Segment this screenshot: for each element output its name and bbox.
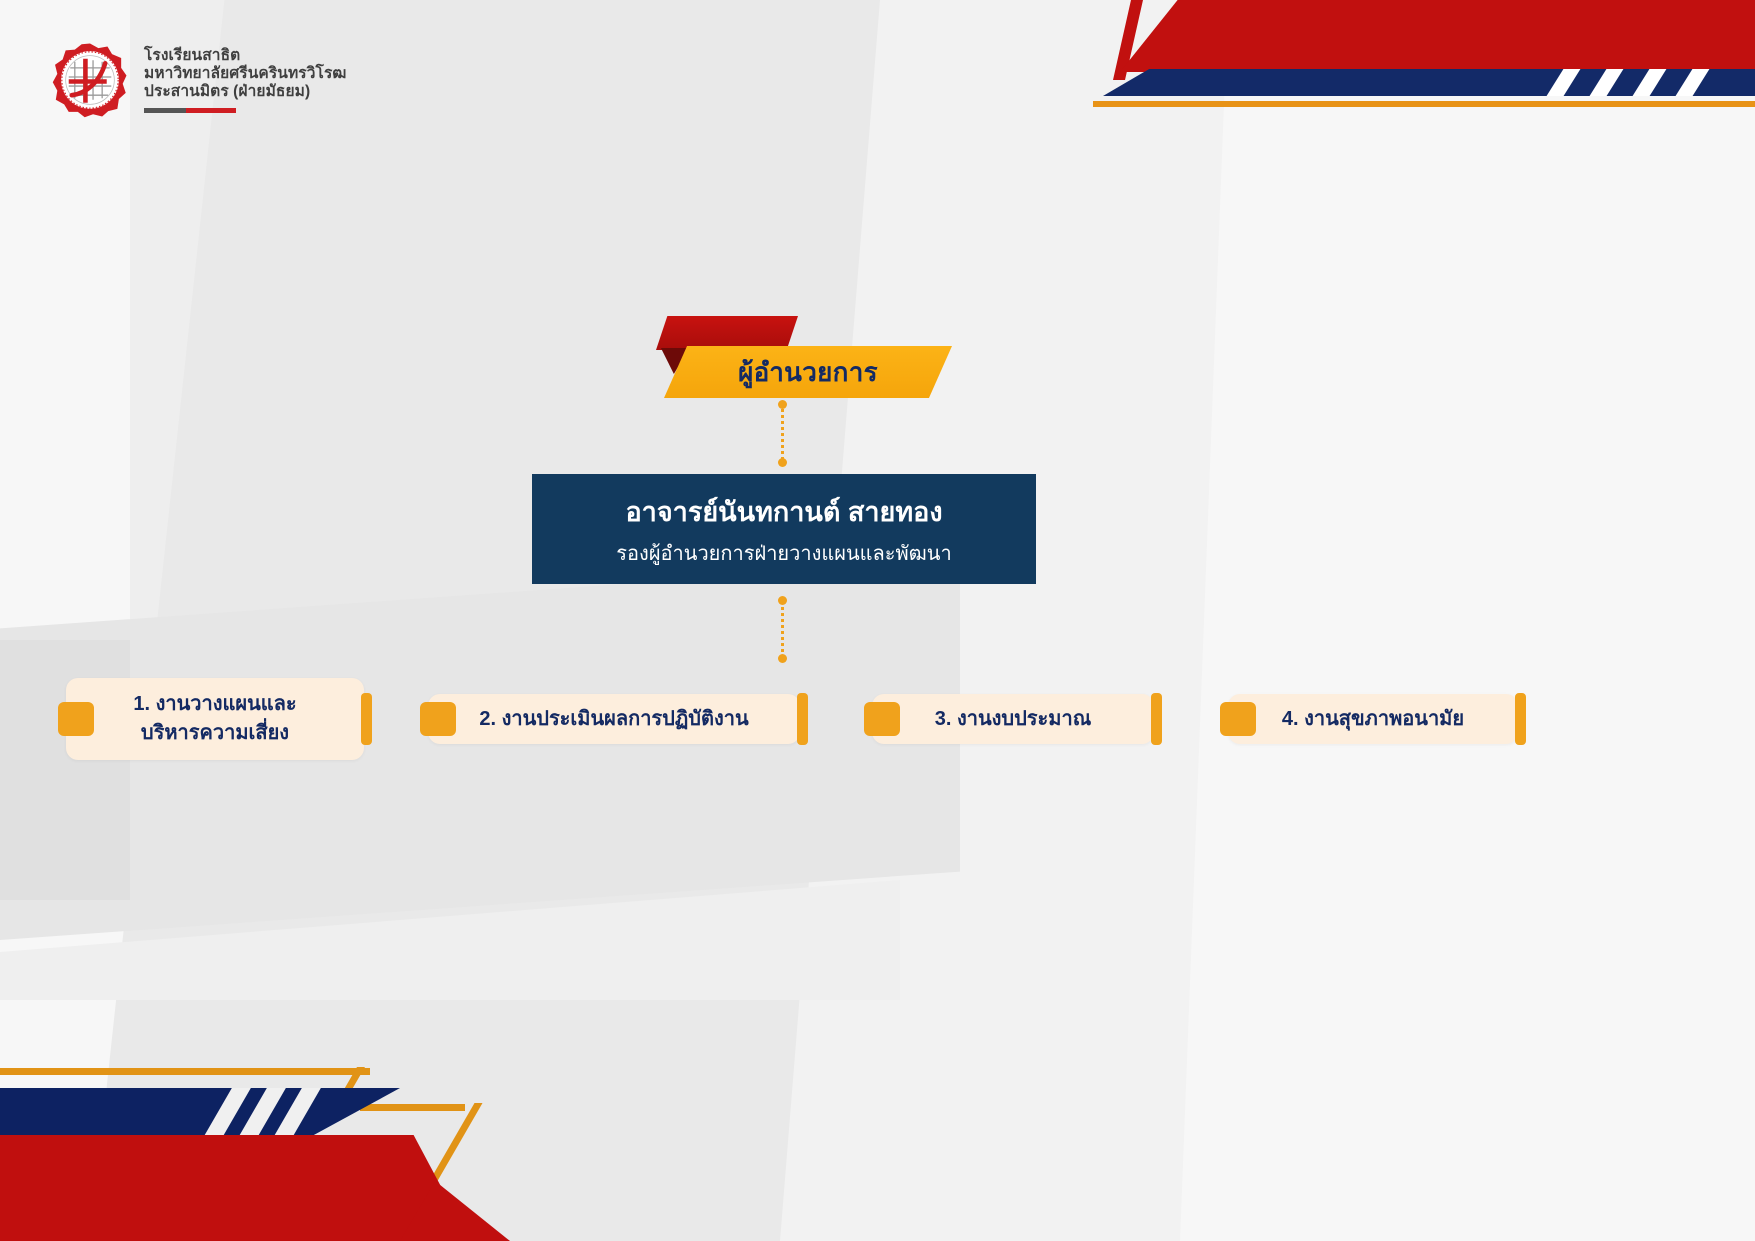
department-card-2[interactable]: 2. งานประเมินผลการปฏิบัติงาน: [428, 694, 800, 744]
decoration-orange-line: [360, 1104, 465, 1111]
banner-plate: ผู้อำนวยการ: [664, 346, 952, 398]
school-seal-icon: [52, 42, 128, 118]
decoration-orange-line: [1093, 101, 1755, 107]
decoration-orange-line: [0, 1068, 370, 1075]
connector-dot: [778, 458, 787, 467]
connector-dot: [778, 654, 787, 663]
bottom-left-decoration: [0, 991, 600, 1241]
executive-role: รองผู้อำนวยการฝ่ายวางแผนและพัฒนา: [616, 537, 951, 569]
connector-line-bottom: [781, 600, 784, 658]
bg-facet: [1180, 0, 1755, 1241]
department-card-4[interactable]: 4. งานสุขภาพอนามัย: [1228, 694, 1518, 744]
department-label-3: 3. งานงบประมาณ: [872, 705, 1154, 734]
connector-dot: [778, 400, 787, 409]
department-card-3[interactable]: 3. งานงบประมาณ: [872, 694, 1154, 744]
department-label-2: 2. งานประเมินผลการปฏิบัติงาน: [428, 705, 800, 734]
banner-ribbon-tab: [656, 316, 798, 350]
executive-card: อาจารย์นันทกานต์ สายทอง รองผู้อำนวยการฝ่…: [532, 474, 1036, 584]
logo-underline: [144, 108, 236, 113]
department-label-4: 4. งานสุขภาพอนามัย: [1228, 705, 1518, 734]
department-label-1-line-1: 1. งานวางแผนและ: [133, 693, 296, 715]
logo-underline-red: [186, 108, 236, 113]
top-right-decoration: [1075, 0, 1755, 120]
decoration-red-band: [1120, 0, 1755, 72]
school-name: โรงเรียนสาธิต มหาวิทยาลัยศรีนครินทรวิโรฒ…: [144, 47, 346, 113]
decoration-navy-band: [0, 1088, 400, 1136]
school-name-line-1: โรงเรียนสาธิต: [144, 47, 346, 65]
banner-title: ผู้อำนวยการ: [738, 352, 878, 393]
connector-line-top: [781, 404, 784, 460]
decoration-orange-diagonal: [429, 1103, 482, 1181]
logo-underline-gray: [144, 108, 186, 113]
executive-name: อาจารย์นันทกานต์ สายทอง: [625, 490, 942, 533]
connector-dot: [778, 596, 787, 605]
school-name-line-2: มหาวิทยาลัยศรีนครินทรวิโรฒ: [144, 65, 346, 83]
school-logo: โรงเรียนสาธิต มหาวิทยาลัยศรีนครินทรวิโรฒ…: [52, 42, 346, 118]
department-label-1: 1. งานวางแผนและ บริหารความเสี่ยง: [66, 690, 364, 748]
director-banner: ผู้อำนวยการ: [650, 316, 970, 398]
department-label-1-line-2: บริหารความเสี่ยง: [141, 722, 289, 744]
decoration-red-band: [0, 1135, 470, 1241]
department-card-1[interactable]: 1. งานวางแผนและ บริหารความเสี่ยง: [66, 678, 364, 760]
school-name-line-3: ประสานมิตร (ฝ่ายมัธยม): [144, 83, 346, 101]
